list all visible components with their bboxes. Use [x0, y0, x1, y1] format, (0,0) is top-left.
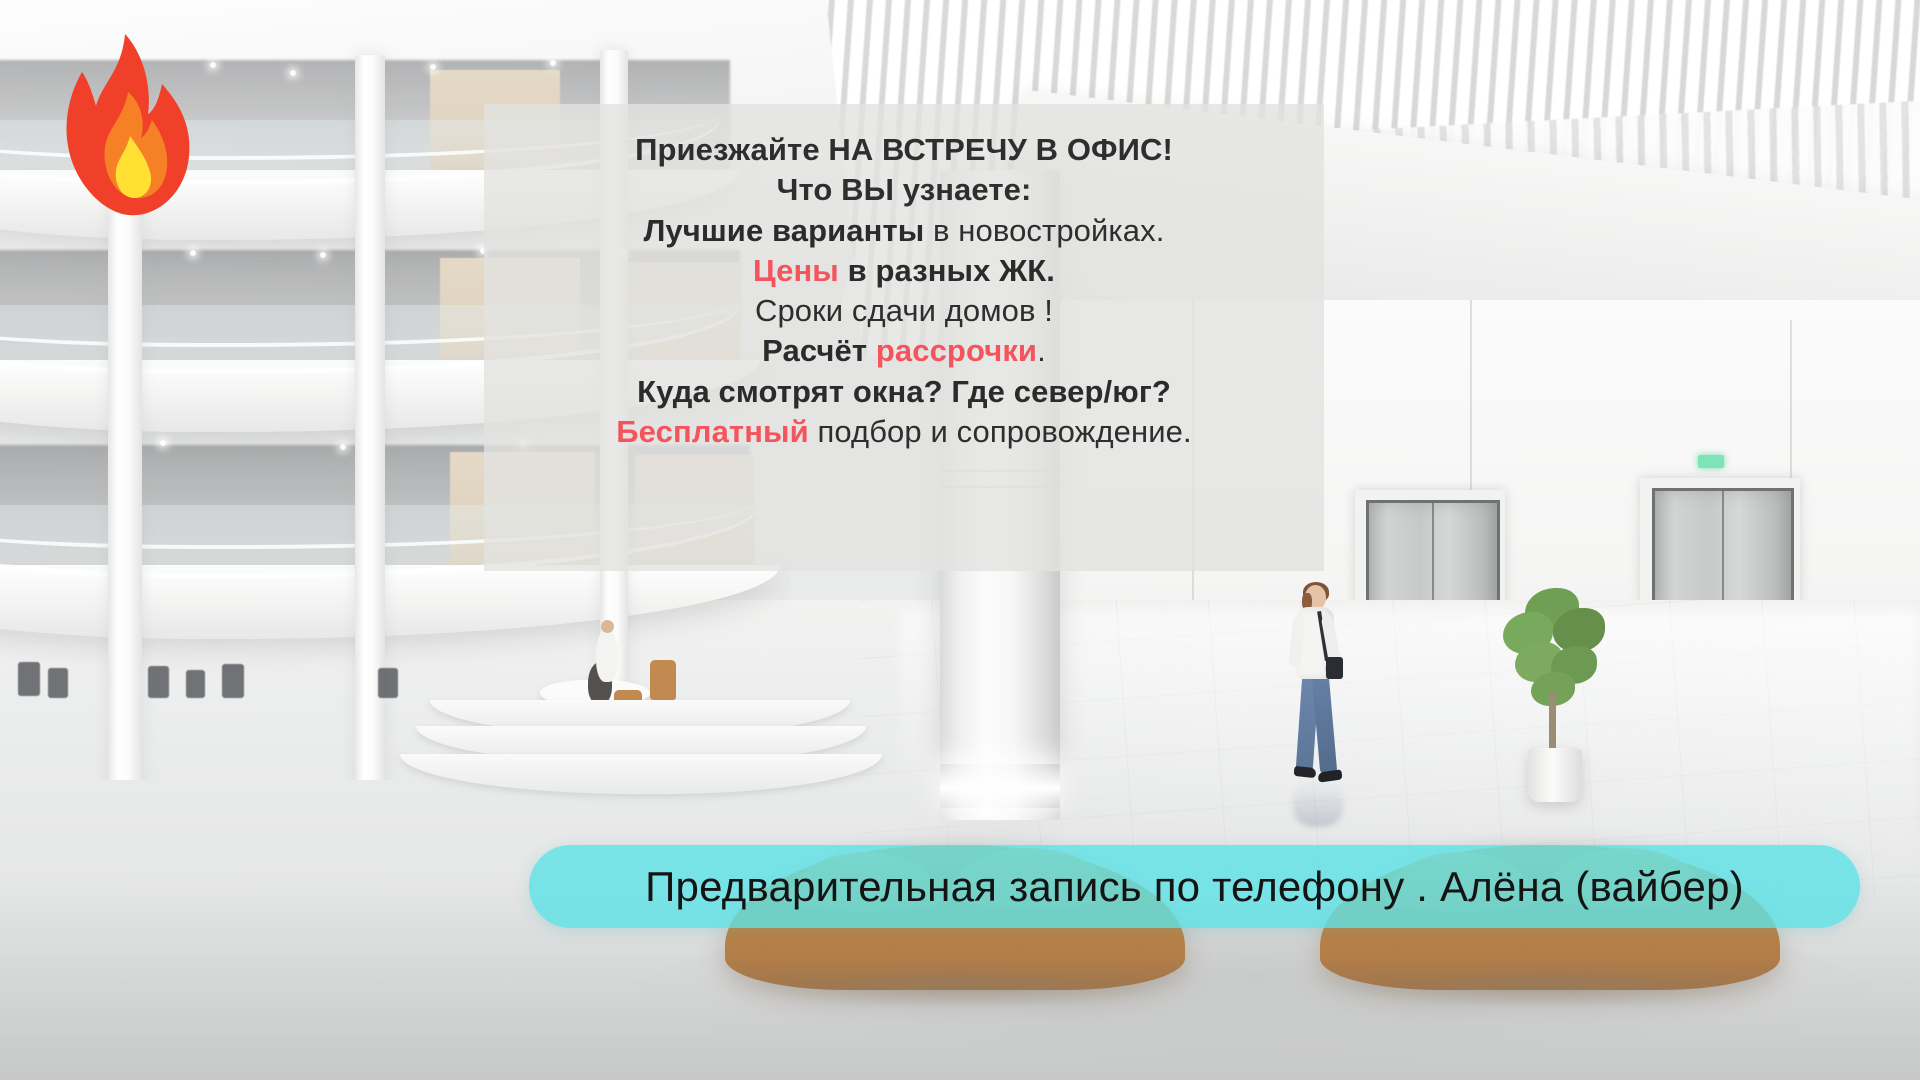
benefit-1-bold: Лучшие варианты — [644, 213, 925, 248]
benefit-4-normal: . — [1037, 333, 1046, 368]
panel-title: Приезжайте НА ВСТРЕЧУ В ОФИС! — [514, 130, 1294, 170]
benefit-2-bold: в разных ЖК. — [839, 253, 1055, 288]
benefit-line-1: Лучшие варианты в новостройках. — [514, 211, 1294, 251]
benefit-4-bold: Расчёт — [762, 333, 876, 368]
benefit-5-bold: Куда смотрят окна? Где север/юг? — [637, 374, 1171, 409]
ceiling-spotlight — [160, 440, 166, 446]
benefit-6-normal: подбор и сопровождение. — [809, 414, 1192, 449]
seated-person-silhouette — [186, 670, 205, 698]
benefit-6-red: Бесплатный — [616, 414, 808, 449]
ceiling-spotlight — [290, 70, 296, 76]
contact-banner-text: Предварительная запись по телефону . Алё… — [645, 863, 1744, 911]
woman-reflection — [1293, 781, 1343, 827]
benefit-1-normal: в новостройках. — [924, 213, 1164, 248]
contact-banner: Предварительная запись по телефону . Алё… — [529, 845, 1860, 928]
advertisement-poster: Приезжайте НА ВСТРЕЧУ В ОФИС! Что ВЫ узн… — [0, 0, 1920, 1080]
exit-sign-icon — [1698, 455, 1724, 468]
offer-text-panel: Приезжайте НА ВСТРЕЧУ В ОФИС! Что ВЫ узн… — [484, 104, 1324, 571]
meeting-chair — [650, 660, 676, 700]
walking-woman — [1285, 585, 1347, 800]
woman-shoe-right — [1317, 769, 1342, 782]
benefit-line-6: Бесплатный подбор и сопровождение. — [514, 412, 1294, 452]
benefit-line-4: Расчёт рассрочки. — [514, 331, 1294, 371]
stair-step — [400, 754, 882, 794]
ceiling-spotlight — [320, 252, 326, 258]
seated-person-silhouette — [18, 662, 40, 696]
tree-pot — [1528, 748, 1582, 802]
column-base-light — [940, 764, 1060, 808]
tree-trunk — [1549, 692, 1556, 754]
ceiling-spotlight — [340, 444, 346, 450]
ceiling-spotlight — [430, 64, 436, 70]
seated-person-silhouette — [148, 666, 169, 698]
woman-shoe-left — [1294, 766, 1317, 778]
fire-emoji-icon — [62, 32, 192, 217]
benefit-2-red: Цены — [753, 253, 839, 288]
seated-person-silhouette — [222, 664, 244, 698]
woman-handbag — [1326, 657, 1343, 679]
benefit-line-2: Цены в разных ЖК. — [514, 251, 1294, 291]
woman-leg-right — [1312, 674, 1337, 773]
benefit-4-red: рассрочки — [876, 333, 1037, 368]
curved-stairs — [430, 700, 890, 830]
seated-person-silhouette — [378, 668, 398, 698]
standing-person-head — [601, 620, 614, 633]
ceiling-spotlight — [190, 250, 196, 256]
panel-subtitle: Что ВЫ узнаете: — [514, 170, 1294, 210]
benefit-line-5: Куда смотрят окна? Где север/юг? — [514, 372, 1294, 412]
seated-person-silhouette — [48, 668, 68, 698]
standing-person — [596, 628, 618, 682]
ceiling-spotlight — [550, 60, 556, 66]
ceiling-spotlight — [210, 62, 216, 68]
potted-tree — [1495, 580, 1615, 810]
benefit-3-plain: Сроки сдачи домов ! — [755, 293, 1053, 328]
benefit-line-3: Сроки сдачи домов ! — [514, 291, 1294, 331]
